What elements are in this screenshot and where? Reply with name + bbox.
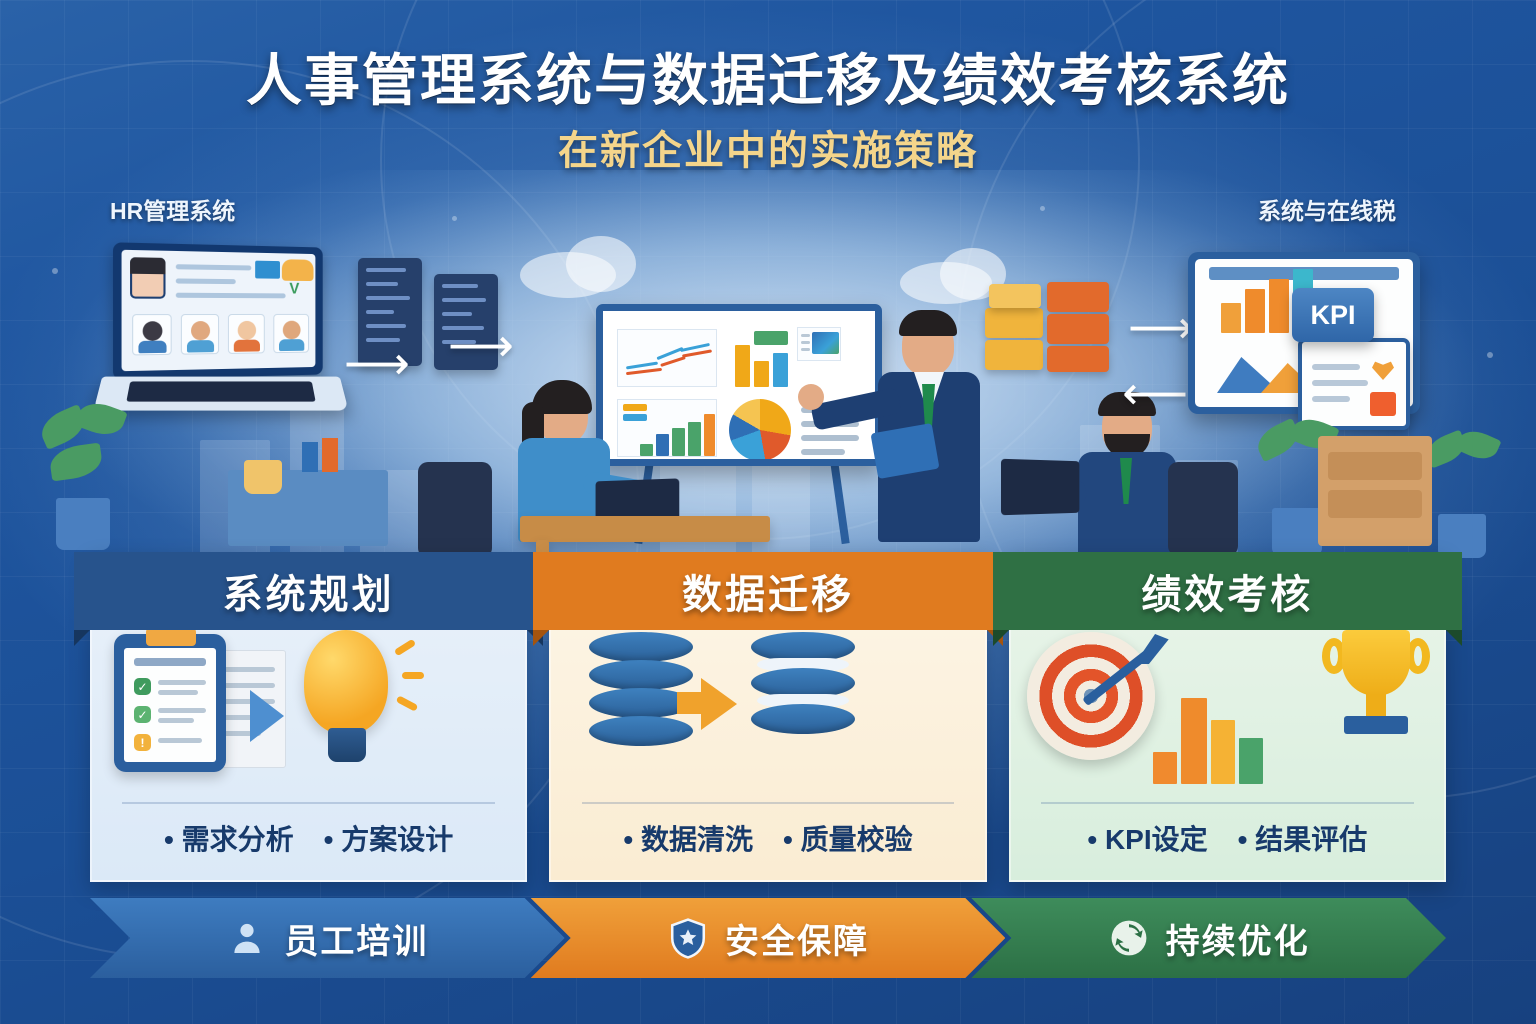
board-text-line	[801, 435, 859, 441]
crate	[985, 340, 1043, 370]
thumbnail-line	[801, 348, 810, 351]
trend-line	[626, 368, 662, 375]
presenter-hand	[798, 384, 824, 410]
profile-highlight	[282, 259, 314, 281]
person-icon	[226, 916, 268, 960]
sync-arrow-icon: ⟶	[1122, 366, 1188, 420]
check-icon: ✓	[134, 678, 151, 695]
database-target-icon	[751, 632, 855, 748]
hr-laptop: V	[98, 245, 344, 415]
trophy-base	[1344, 716, 1408, 734]
kpi-card-line	[1312, 364, 1360, 370]
bullet-item: 数据清洗	[623, 818, 753, 858]
sync-arrow-icon: ⟶	[344, 336, 410, 390]
employee-card	[181, 314, 219, 355]
migration-arrow-tail	[677, 692, 707, 714]
presenter-figure	[856, 310, 1006, 560]
crate	[1047, 346, 1109, 372]
board-text-line	[801, 449, 845, 455]
lightbulb-ray	[394, 639, 416, 657]
bar	[754, 361, 769, 387]
process-cards: 系统规划 ✓	[90, 552, 1446, 882]
status-swatch	[1370, 392, 1396, 416]
cabinet-drawer	[1328, 490, 1422, 518]
plant-pot	[1272, 508, 1322, 556]
clipboard-clip	[146, 628, 196, 646]
avatar-body	[234, 340, 260, 352]
heart-icon	[1372, 360, 1394, 380]
infographic-poster: V	[0, 0, 1536, 1024]
presenter-hair	[899, 310, 957, 336]
bullet-item: 方案设计	[324, 818, 454, 858]
page-subtitle: 在新企业中的实施策略	[0, 118, 1536, 176]
ribbon-segment-training[interactable]: 员工培训	[90, 898, 565, 978]
bar	[688, 422, 701, 456]
pending-icon: !	[134, 734, 151, 751]
laptop-screen: V	[122, 250, 316, 371]
employee-card	[132, 314, 172, 355]
kpi-card-line	[1312, 396, 1350, 402]
pie-chart	[729, 399, 791, 461]
profile-hair	[130, 257, 165, 274]
check-icon: ✓	[134, 706, 151, 723]
bar	[1153, 752, 1177, 784]
laptop-keyboard	[126, 381, 315, 401]
employee-card	[228, 314, 265, 354]
card-banner-title: 系统规划	[74, 552, 543, 630]
avatar	[283, 321, 301, 340]
bottom-ribbon: 员工培训 安全保障 持续优化	[90, 898, 1446, 978]
potted-plant	[34, 398, 130, 550]
bullet-item: 质量校验	[783, 818, 913, 858]
doc-line	[221, 683, 275, 688]
office-chair	[418, 462, 492, 558]
avatar	[191, 321, 210, 340]
office-chair	[1168, 462, 1238, 556]
lightbulb-ray	[396, 695, 419, 712]
bar-top-block	[754, 331, 788, 345]
arrow-fletching	[1135, 634, 1169, 664]
db-disc	[751, 704, 855, 734]
avatar	[143, 321, 163, 341]
ribbon-segment-optimization[interactable]: 持续优化	[971, 898, 1446, 978]
man-laptop	[1001, 459, 1079, 516]
thumbnail-line	[801, 341, 810, 344]
cloud-icon	[566, 236, 636, 292]
laptop-lid: V	[113, 242, 323, 379]
db-disc	[589, 716, 693, 746]
plant-leaf	[48, 443, 104, 482]
trend-line	[660, 356, 686, 367]
bullet-item: KPI设定	[1087, 818, 1207, 858]
bar	[1239, 738, 1263, 784]
db-disc	[589, 660, 693, 690]
page-title: 人事管理系统与数据迁移及绩效考核系统	[0, 36, 1536, 117]
employee-card	[273, 314, 309, 353]
bar	[1211, 720, 1235, 784]
lightbulb-ray	[402, 672, 424, 679]
bar	[1245, 289, 1265, 333]
profile-text-line	[176, 278, 236, 284]
kpi-badge: KPI	[1292, 288, 1374, 342]
crate	[985, 308, 1043, 338]
card-bullets: KPI设定 结果评估	[1041, 818, 1414, 858]
plant-leaf	[74, 397, 127, 441]
sheet-line	[158, 708, 206, 713]
card-data-migration[interactable]: 数据迁移	[549, 552, 986, 882]
sheet-line	[158, 718, 194, 723]
profile-badge	[255, 261, 280, 279]
trophy-cup	[1342, 630, 1410, 696]
kpi-card-line	[1312, 380, 1368, 386]
ribbon-segment-security[interactable]: 安全保障	[531, 898, 1006, 978]
sync-arrow-icon: ⟶	[1128, 300, 1194, 354]
sheet-line	[158, 738, 202, 743]
sheet-header	[134, 658, 206, 666]
card-system-planning[interactable]: 系统规划 ✓	[90, 552, 527, 882]
desk	[520, 516, 770, 542]
lightbulb-icon	[304, 630, 388, 734]
card-banner-title: 绩效考核	[993, 552, 1462, 630]
label-hr-system: HR管理系统	[110, 192, 235, 226]
trophy-stem	[1366, 694, 1386, 716]
crate	[1047, 314, 1109, 344]
sheet-line	[158, 690, 198, 695]
lightbulb-base	[328, 728, 366, 762]
ribbon-label: 员工培训	[284, 914, 428, 963]
bar	[1269, 279, 1289, 333]
sync-arrow-icon: ⟶	[448, 318, 514, 372]
shield-icon	[667, 916, 709, 960]
coffee-mug-icon	[244, 460, 282, 494]
potted-plant	[1420, 428, 1506, 558]
plant-pot	[56, 498, 110, 550]
refresh-icon	[1108, 916, 1150, 960]
card-artwork	[551, 616, 984, 802]
check-icon: V	[289, 281, 299, 299]
card-bullets: 需求分析 方案设计	[122, 818, 495, 858]
profile-text-line	[176, 293, 286, 299]
bar	[1221, 303, 1241, 333]
bar	[1181, 698, 1207, 784]
shelf-book	[302, 442, 318, 472]
bar	[672, 428, 685, 456]
label-system-online: 系统与在线税	[1258, 192, 1396, 226]
avatar	[238, 321, 256, 340]
avatar-body	[138, 341, 166, 354]
card-footer: 数据清洗 质量校验	[582, 802, 955, 880]
trophy-icon	[1328, 630, 1424, 740]
bar	[773, 353, 788, 387]
db-disc	[589, 632, 693, 662]
card-footer: KPI设定 结果评估	[1041, 802, 1414, 880]
sheet-line	[158, 680, 206, 685]
clipboard-icon: ✓ ✓ !	[114, 634, 226, 772]
dashboard-thumbnail	[797, 327, 841, 361]
database-source-icon	[589, 632, 693, 748]
thumbnail-line	[801, 334, 810, 337]
card-artwork	[1011, 616, 1444, 802]
clipboard-sheet: ✓ ✓ !	[124, 648, 216, 762]
bar-chart	[731, 329, 789, 387]
avatar-body	[279, 339, 304, 351]
doc-line	[221, 667, 275, 672]
bullet-item: 结果评估	[1238, 818, 1368, 858]
cabinet-drawer	[1328, 452, 1422, 480]
laptop-base	[93, 377, 348, 411]
bar	[704, 414, 715, 456]
bullet-item: 需求分析	[164, 818, 294, 858]
blue-arrow-icon	[250, 690, 284, 742]
avatar-body	[187, 340, 214, 352]
card-footer: 需求分析 方案设计	[122, 802, 495, 880]
ribbon-label: 持续优化	[1166, 914, 1310, 963]
card-performance-review[interactable]: 绩效考核	[1009, 552, 1446, 882]
crate	[989, 284, 1041, 308]
ribbon-label: 安全保障	[725, 914, 869, 963]
thumbnail-image	[812, 332, 839, 354]
card-bullets: 数据清洗 质量校验	[582, 818, 955, 858]
line-chart	[617, 329, 717, 387]
plant-leaf	[1454, 425, 1501, 465]
card-artwork: ✓ ✓ !	[92, 616, 525, 802]
profile-text-line	[176, 264, 252, 270]
bar	[735, 345, 750, 387]
card-banner-title: 数据迁移	[533, 552, 1002, 630]
crate	[1047, 282, 1109, 312]
shelf-book	[322, 438, 338, 472]
